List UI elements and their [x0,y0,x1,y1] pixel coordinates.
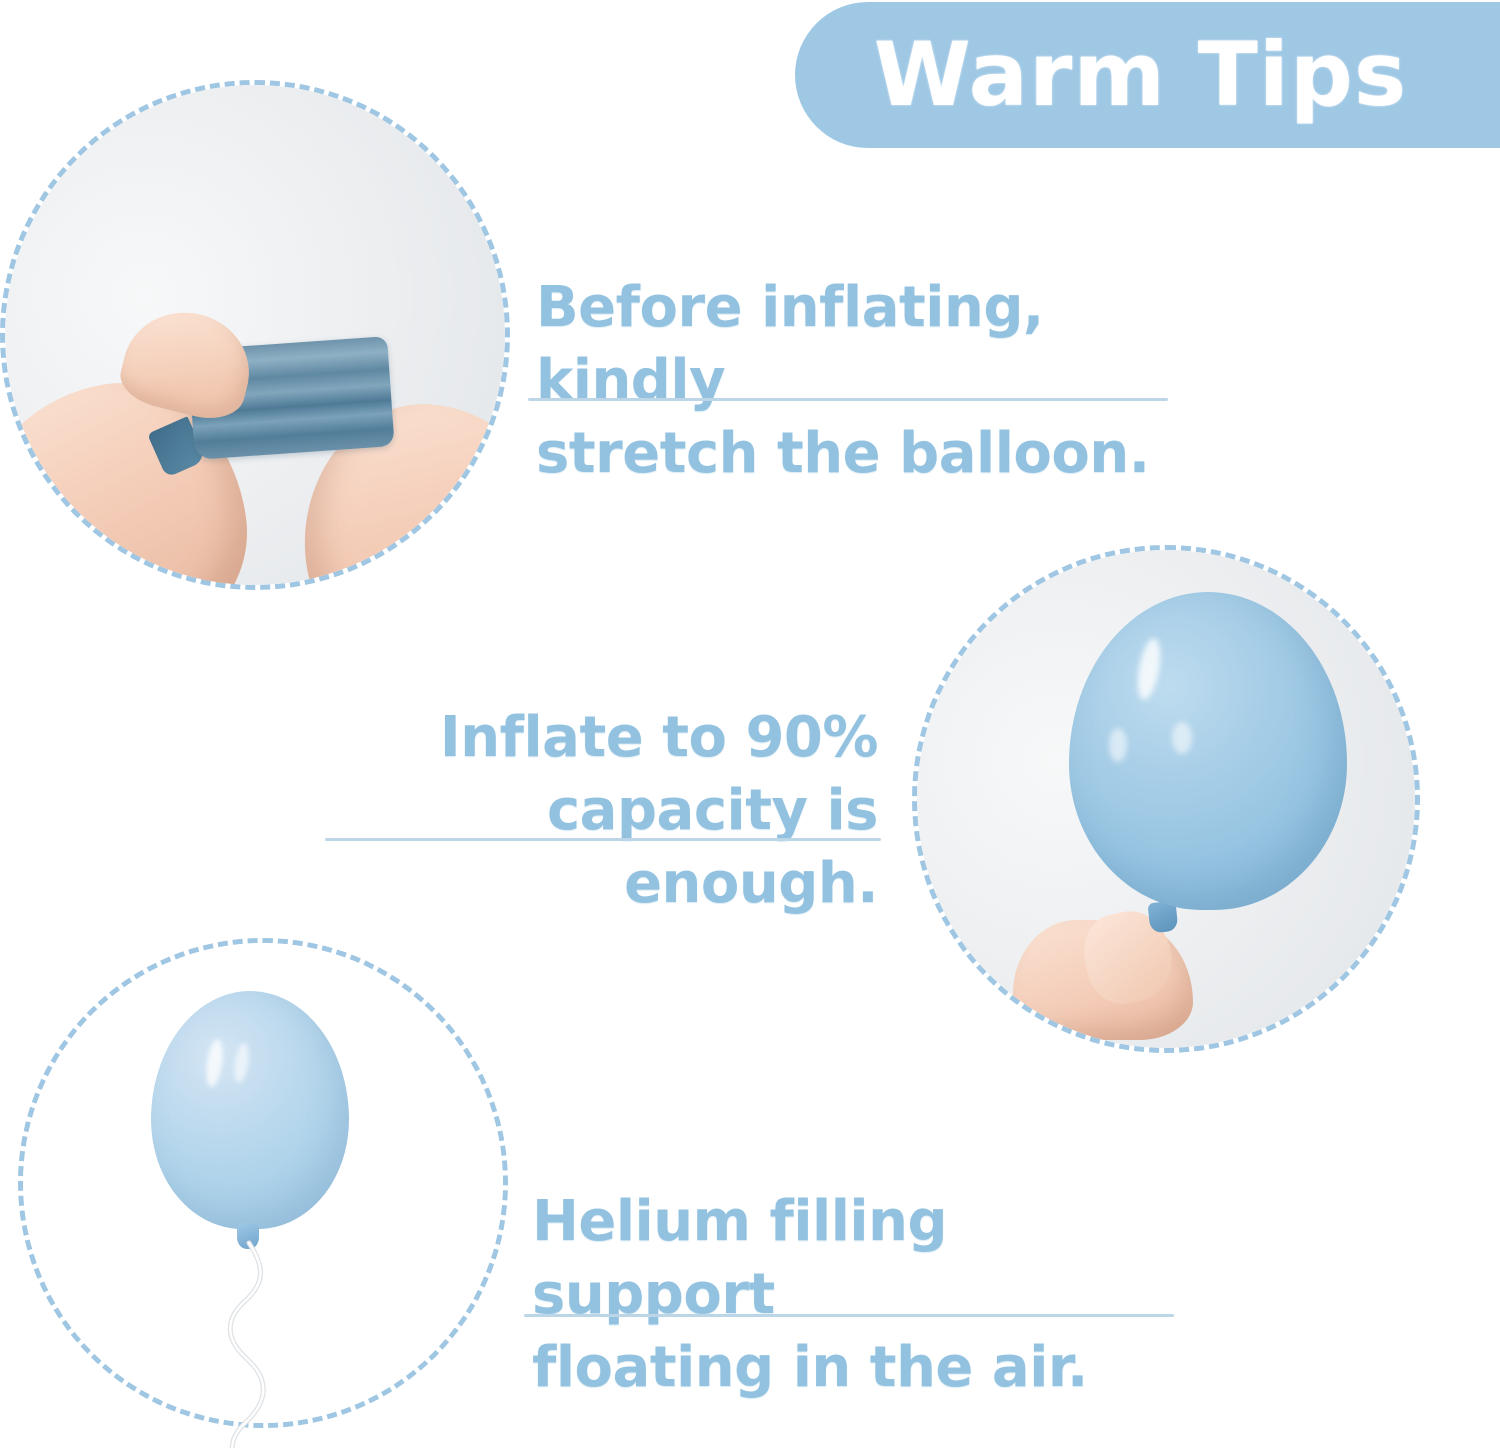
tip-2-divider [325,838,881,841]
photo-clip-inflated [917,550,1415,1048]
tip-image-stretch-balloon [0,80,510,590]
finger-protector [5,119,53,195]
tip-1-line-2: stretch the balloon. [536,418,1196,491]
warm-tips-banner: Warm Tips [795,2,1500,148]
tip-text-stretch: Before inflating, kindly stretch the bal… [536,272,1196,490]
balloon-highlight [1109,728,1127,762]
tip-2-line-2: capacity is enough. [318,775,878,921]
tip-3-line-2: floating in the air. [532,1332,1192,1405]
tip-1-line-1: Before inflating, kindly [536,272,1196,418]
photo-clip-stretch [5,85,505,585]
tip-image-inflated-balloon [912,545,1420,1053]
warm-tips-infographic: Warm Tips Before inflating, kindly stret… [0,0,1500,1448]
tip-2-line-1: Inflate to 90% [318,702,878,775]
tip-text-helium: Helium filling support floating in the a… [532,1186,1192,1404]
balloon-highlight [1172,722,1192,754]
tip-3-divider [524,1314,1174,1317]
tip-image-floating-balloon [18,938,508,1428]
page-title: Warm Tips [874,31,1408,119]
balloon-knot [237,1223,259,1249]
tip-text-inflate: Inflate to 90% capacity is enough. [318,702,878,920]
tip-3-line-1: Helium filling support [532,1186,1192,1332]
tip-1-divider [528,398,1168,401]
